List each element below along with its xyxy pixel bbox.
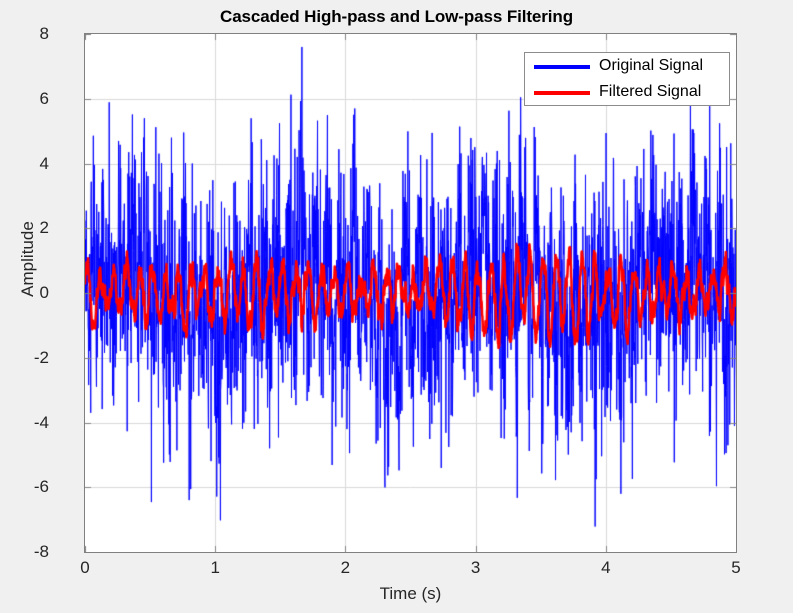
matlab-figure-window: Cascaded High-pass and Low-pass Filterin… (0, 0, 793, 613)
x-tick-label: 1 (195, 558, 235, 578)
legend-entry-original[interactable]: Original Signal (525, 53, 731, 80)
chart-legend[interactable]: Original Signal Filtered Signal (524, 52, 730, 106)
y-axis-label: Amplitude (18, 169, 38, 349)
x-tick-label: 2 (325, 558, 365, 578)
y-tick-label: -8 (9, 542, 49, 562)
x-tick-label: 5 (716, 558, 756, 578)
x-tick-label: 3 (456, 558, 496, 578)
x-axis-label: Time (s) (84, 584, 737, 604)
plot-axes (84, 33, 737, 553)
legend-entry-filtered[interactable]: Filtered Signal (525, 79, 731, 106)
y-tick-label: -4 (9, 413, 49, 433)
y-tick-label: -2 (9, 348, 49, 368)
y-tick-label: 8 (9, 24, 49, 44)
legend-label-filtered: Filtered Signal (599, 83, 701, 101)
legend-swatch-filtered (534, 91, 590, 95)
signal-plot-canvas (85, 34, 736, 552)
legend-label-original: Original Signal (599, 57, 703, 75)
legend-swatch-original (534, 65, 590, 69)
x-tick-label: 4 (586, 558, 626, 578)
page-title: Cascaded High-pass and Low-pass Filterin… (0, 7, 793, 27)
y-tick-label: -6 (9, 477, 49, 497)
y-tick-label: 6 (9, 89, 49, 109)
x-tick-label: 0 (65, 558, 105, 578)
